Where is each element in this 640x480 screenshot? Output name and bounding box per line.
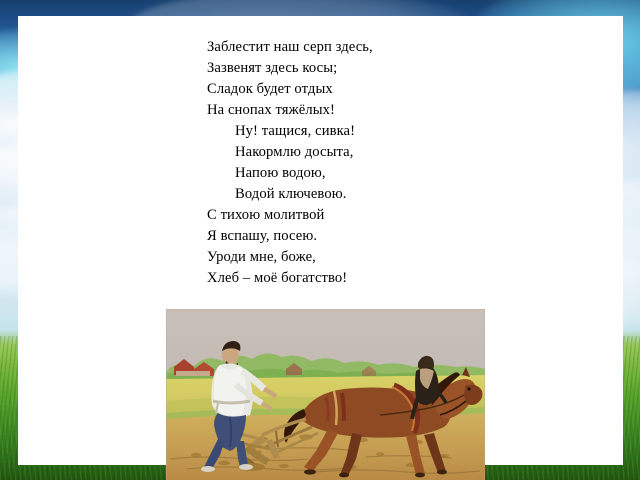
poem-line: На снопах тяжёлых! — [207, 100, 507, 121]
poem-line: Сладок будет отдых — [207, 79, 507, 100]
slide-content-panel: Заблестит наш серп здесь,Зазвенят здесь … — [18, 16, 623, 465]
illustration-ploughing — [166, 309, 485, 480]
poem-line: С тихою молитвой — [207, 205, 507, 226]
poem-line: Зазвенят здесь косы; — [207, 58, 507, 79]
poem-line: Ну! тащися, сивка! — [207, 121, 507, 142]
illustration-artwork — [166, 309, 485, 480]
poem-text-block: Заблестит наш серп здесь,Зазвенят здесь … — [207, 37, 507, 289]
poem-line: Заблестит наш серп здесь, — [207, 37, 507, 58]
poem-line: Я вспашу, посею. — [207, 226, 507, 247]
poem-line: Напою водою, — [207, 163, 507, 184]
poem-line: Уроди мне, боже, — [207, 247, 507, 268]
poem-line: Водой ключевою. — [207, 184, 507, 205]
poem-line: Хлеб – моё богатство! — [207, 268, 507, 289]
poem-line: Накормлю досыта, — [207, 142, 507, 163]
